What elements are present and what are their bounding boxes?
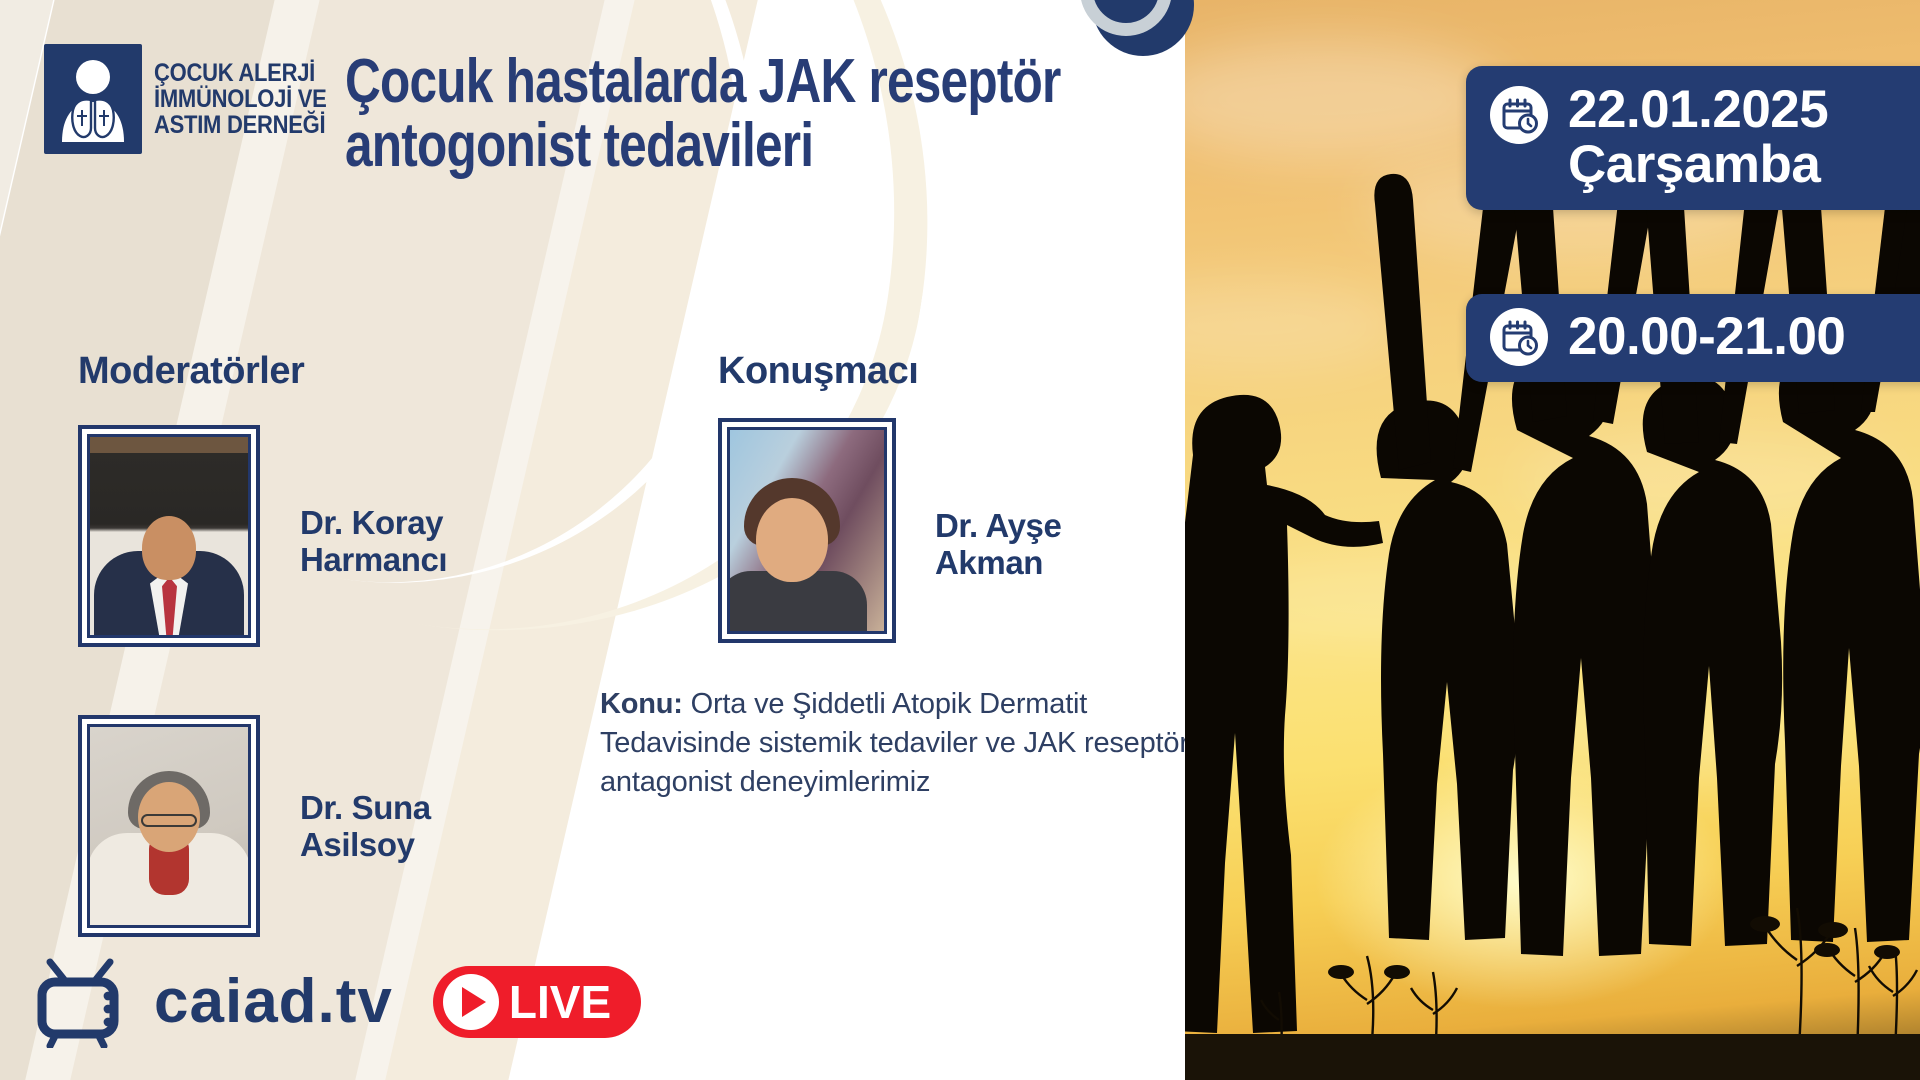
topic-label: Konu:	[600, 688, 683, 720]
play-icon	[443, 974, 499, 1030]
calendar-clock-icon	[1490, 86, 1548, 144]
title-line-2: antogonist tedavileri	[345, 114, 993, 178]
moderator-name-line-1: Dr. Koray	[300, 505, 447, 542]
footer-brand: caiad.tv LIVE	[36, 956, 641, 1048]
portrait-ayse-akman	[730, 430, 884, 631]
brand-name[interactable]: caiad.tv	[154, 971, 393, 1033]
page-title: Çocuk hastalarda JAK reseptör antogonist…	[345, 50, 993, 179]
torso-lungs-icon	[44, 44, 142, 154]
portrait-koray-harmanci	[90, 437, 248, 635]
portrait-suna-asilsoy	[90, 727, 248, 925]
org-name-line-2: İMMÜNOLOJİ VE	[154, 86, 327, 112]
live-label: LIVE	[509, 975, 611, 1029]
moderator-name-line-1: Dr. Suna	[300, 790, 431, 827]
moderator-name: Dr. Suna Asilsoy	[300, 790, 431, 864]
info-panel: ÇOCUK ALERJİ İMMÜNOLOJİ VE ASTIM DERNEĞİ…	[0, 0, 1185, 1080]
television-icon	[36, 956, 146, 1048]
speaker-name: Dr. Ayşe Akman	[935, 508, 1061, 582]
title-line-1: Çocuk hastalarda JAK reseptör	[345, 50, 993, 114]
moderator-photo-frame	[78, 715, 260, 937]
speaker-name-line-2: Akman	[935, 545, 1061, 582]
live-badge[interactable]: LIVE	[433, 966, 641, 1038]
moderator-name-line-2: Harmancı	[300, 542, 447, 579]
speaker-name-line-1: Dr. Ayşe	[935, 508, 1061, 545]
event-day: Çarşamba	[1568, 137, 1828, 192]
org-name-line-3: ASTIM DERNEĞİ	[154, 112, 327, 138]
date-badge: 22.01.2025 Çarşamba	[1466, 66, 1920, 210]
topic-block: Konu: Orta ve Şiddetli Atopik Dermatit T…	[600, 685, 1185, 802]
ground-line	[1185, 1034, 1920, 1080]
event-time: 20.00-21.00	[1568, 309, 1845, 364]
event-date: 22.01.2025	[1568, 82, 1828, 137]
organization-logo: ÇOCUK ALERJİ İMMÜNOLOJİ VE ASTIM DERNEĞİ	[44, 44, 350, 154]
moderators-heading: Moderatörler	[78, 350, 304, 393]
topic-text: Orta ve Şiddetli Atopik Dermatit Tedavis…	[600, 688, 1185, 798]
moderator-photo-frame	[78, 425, 260, 647]
date-text: 22.01.2025 Çarşamba	[1568, 82, 1828, 192]
time-badge: 20.00-21.00	[1466, 294, 1920, 382]
webinar-poster: ÇOCUK ALERJİ İMMÜNOLOJİ VE ASTIM DERNEĞİ…	[0, 0, 1920, 1080]
org-name-line-1: ÇOCUK ALERJİ	[154, 60, 327, 86]
moderator-name: Dr. Koray Harmancı	[300, 505, 447, 579]
organization-name: ÇOCUK ALERJİ İMMÜNOLOJİ VE ASTIM DERNEĞİ	[154, 60, 327, 138]
calendar-clock-icon	[1490, 308, 1548, 366]
speaker-photo-frame	[718, 418, 896, 643]
speaker-heading: Konuşmacı	[718, 350, 918, 393]
moderator-name-line-2: Asilsoy	[300, 827, 431, 864]
